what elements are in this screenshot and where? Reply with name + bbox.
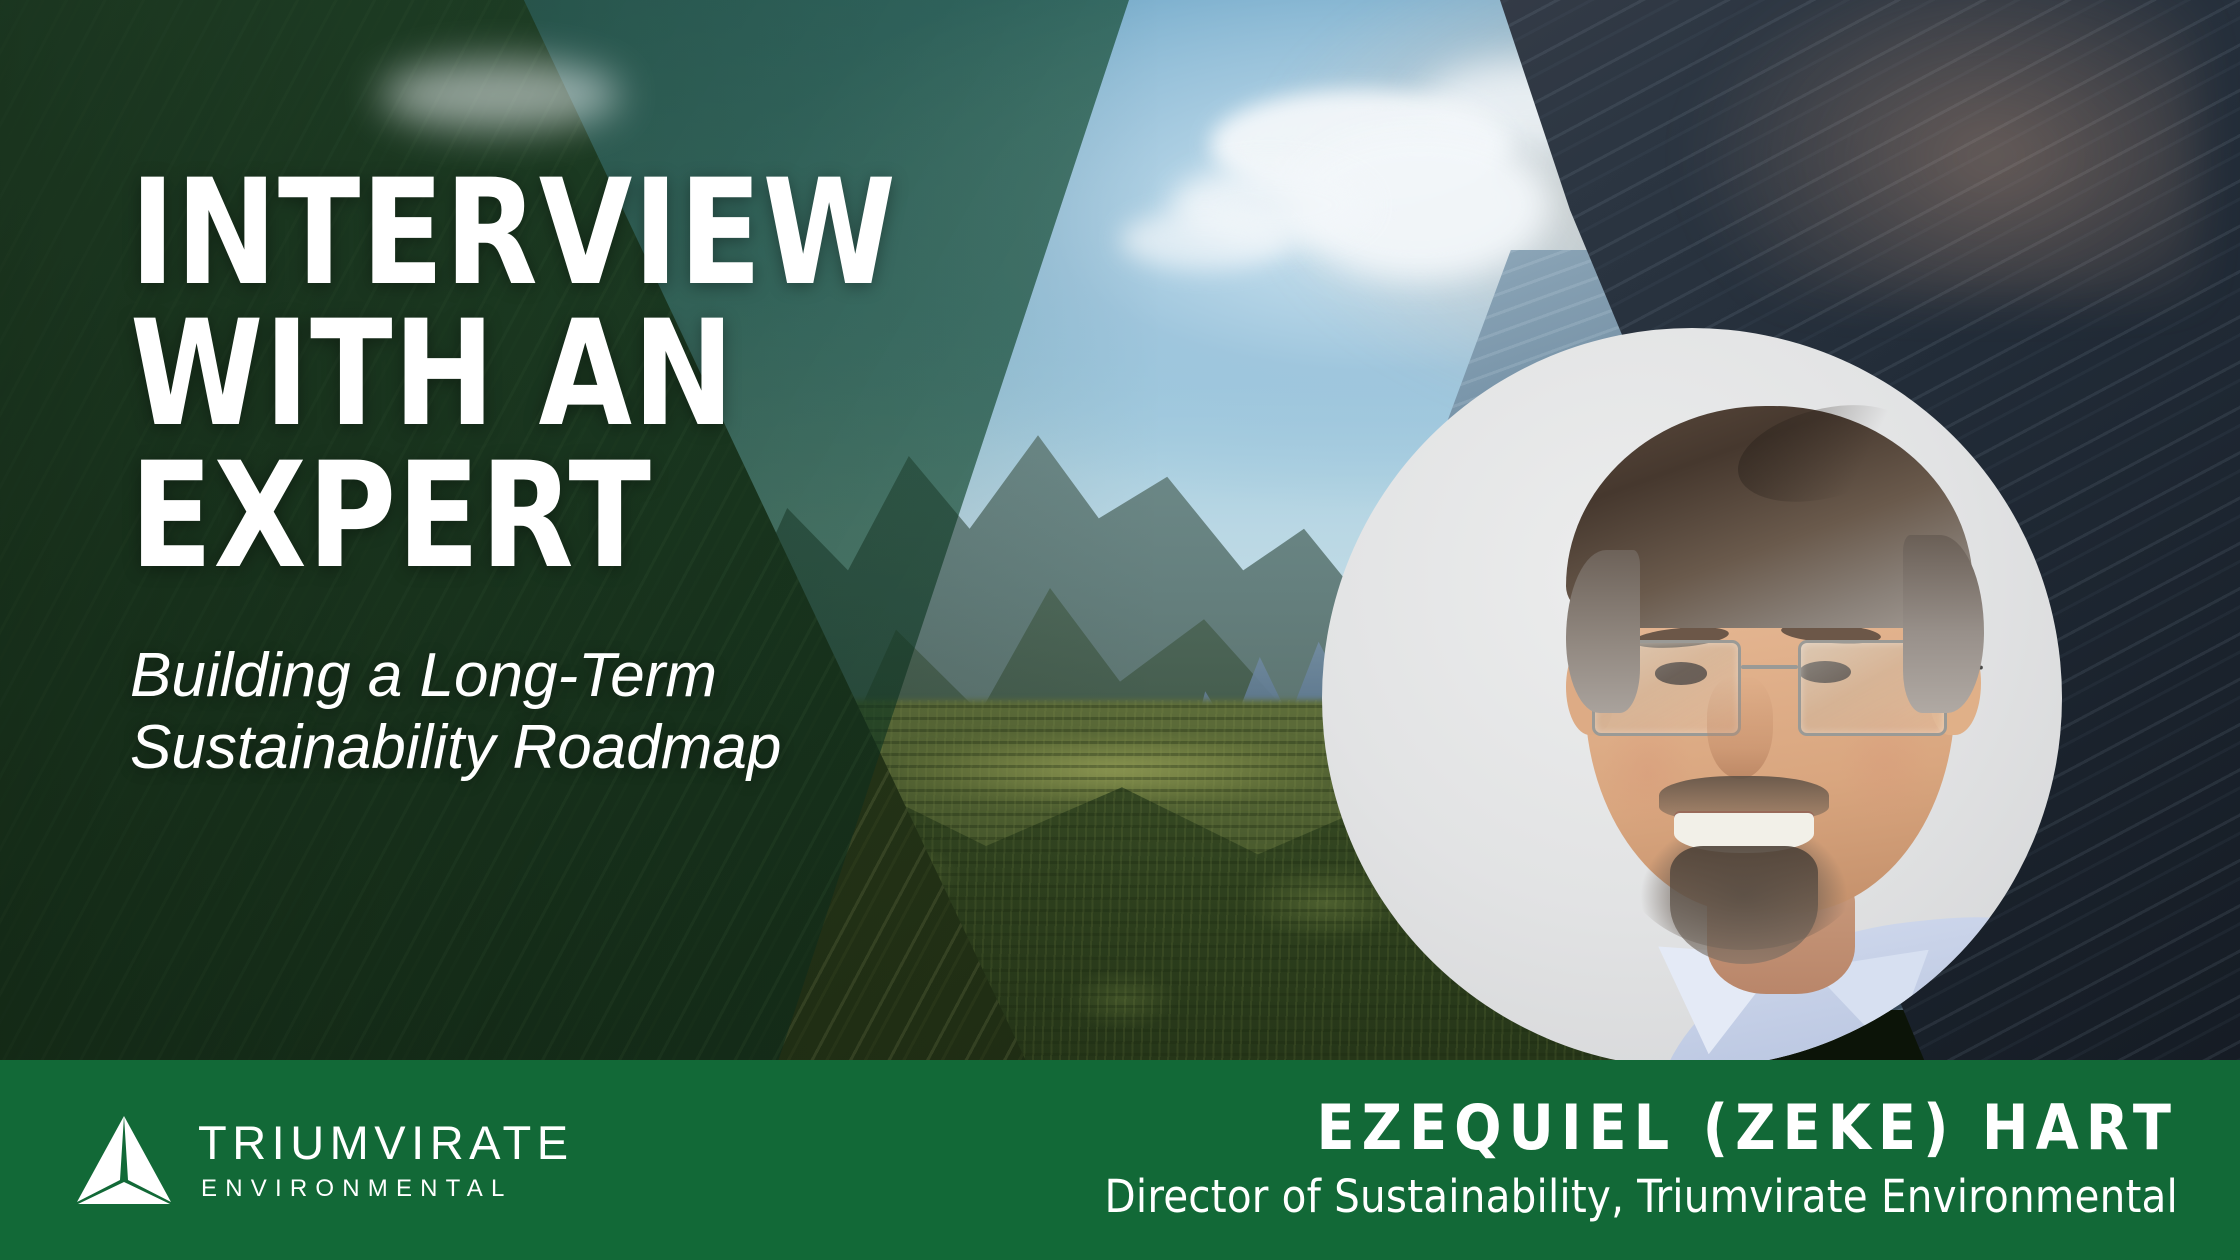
speaker-headshot [1322, 328, 2062, 1068]
portrait-figure [1322, 328, 2062, 1068]
headline: INTERVIEW WITH AN EXPERT [130, 168, 1050, 582]
headline-line-3: EXPERT [130, 451, 1050, 582]
brand-wordmark: TRIUMVIRATE [198, 1119, 574, 1166]
headline-line-1: INTERVIEW [130, 168, 1050, 299]
cloud [380, 60, 620, 130]
brand-submark: ENVIRONMENTAL [201, 1177, 574, 1201]
goatee [1670, 846, 1818, 964]
headline-line-2: WITH AN [130, 309, 1050, 440]
hair-side-left [1566, 550, 1640, 713]
hair-side-right [1903, 535, 1984, 713]
speaker-credit: EZEQUIEL (ZEKE) HART Director of Sustain… [1105, 1096, 2178, 1224]
brand-logo[interactable]: TRIUMVIRATE ENVIRONMENTAL [72, 1114, 574, 1206]
interview-promo-poster: INTERVIEW WITH AN EXPERT Building a Long… [0, 0, 2240, 1260]
brand-wordmark-group: TRIUMVIRATE ENVIRONMENTAL [198, 1119, 574, 1201]
footer-bar: TRIUMVIRATE ENVIRONMENTAL EZEQUIEL (ZEKE… [0, 1060, 2240, 1260]
subheadline-line-1: Building a Long-Term [130, 640, 1130, 712]
subheadline: Building a Long-Term Sustainability Road… [130, 640, 1130, 784]
speaker-name: EZEQUIEL (ZEKE) HART [1105, 1096, 2178, 1160]
triumvirate-triangle-logo-icon [72, 1114, 176, 1206]
title-block: INTERVIEW WITH AN EXPERT Building a Long… [130, 168, 1130, 784]
subheadline-line-2: Sustainability Roadmap [130, 712, 1130, 784]
glasses-bridge [1741, 665, 1798, 669]
speaker-role: Director of Sustainability, Triumvirate … [1105, 1170, 2178, 1224]
